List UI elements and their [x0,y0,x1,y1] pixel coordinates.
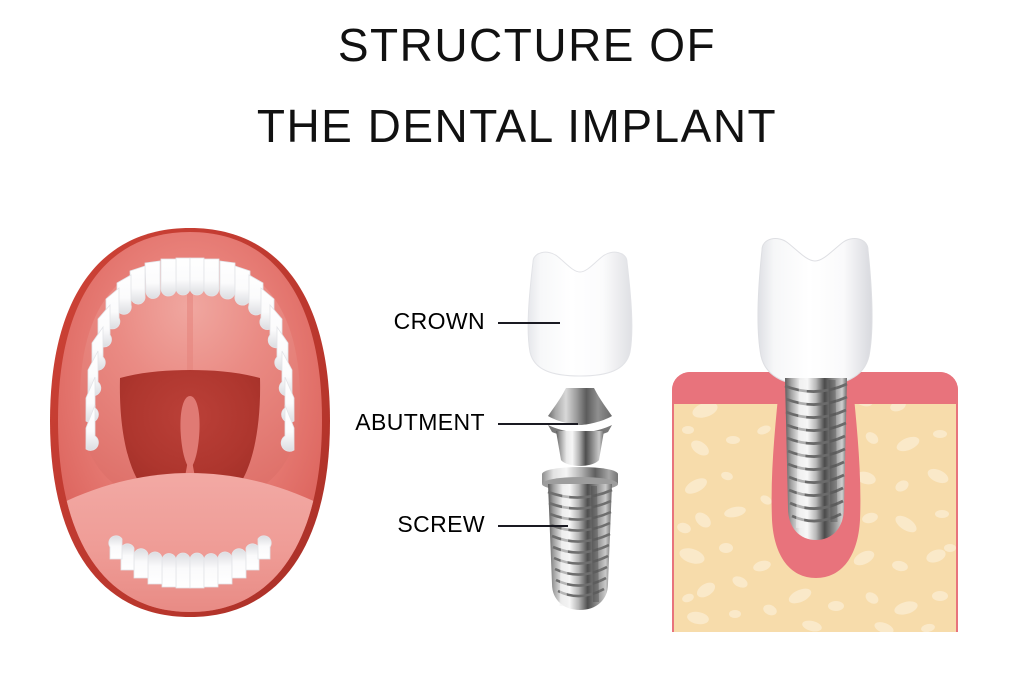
tongue [58,473,322,612]
implant-cross-section [672,239,958,637]
leader-line-screw [498,525,568,527]
tooth [235,266,250,305]
dental-implant-infographic: STRUCTURE OF THE DENTAL IMPLANT [0,0,1024,683]
tooth [176,553,190,588]
tooth [190,553,204,588]
tooth [176,258,190,295]
tooth [130,266,145,304]
tooth [109,536,122,559]
abutment [548,388,612,466]
tooth [220,261,235,299]
crown [758,239,872,386]
tooth [190,258,204,295]
screw-implant [785,378,847,540]
tooth [204,259,219,296]
tooth [145,261,160,299]
open-mouth-illustration [0,0,1024,683]
tooth [258,536,271,559]
tooth [162,553,176,587]
label-screw: SCREW [275,511,485,538]
crown [528,252,632,376]
leader-line-abutment [498,423,578,425]
tooth [134,549,148,578]
tooth [232,549,246,578]
label-crown: CROWN [275,308,485,335]
tooth [218,552,232,584]
label-abutment: ABUTMENT [245,409,485,436]
tooth [204,553,218,587]
tooth [161,259,176,296]
tooth [148,552,162,584]
screw [542,467,618,610]
leader-line-crown [498,322,560,324]
